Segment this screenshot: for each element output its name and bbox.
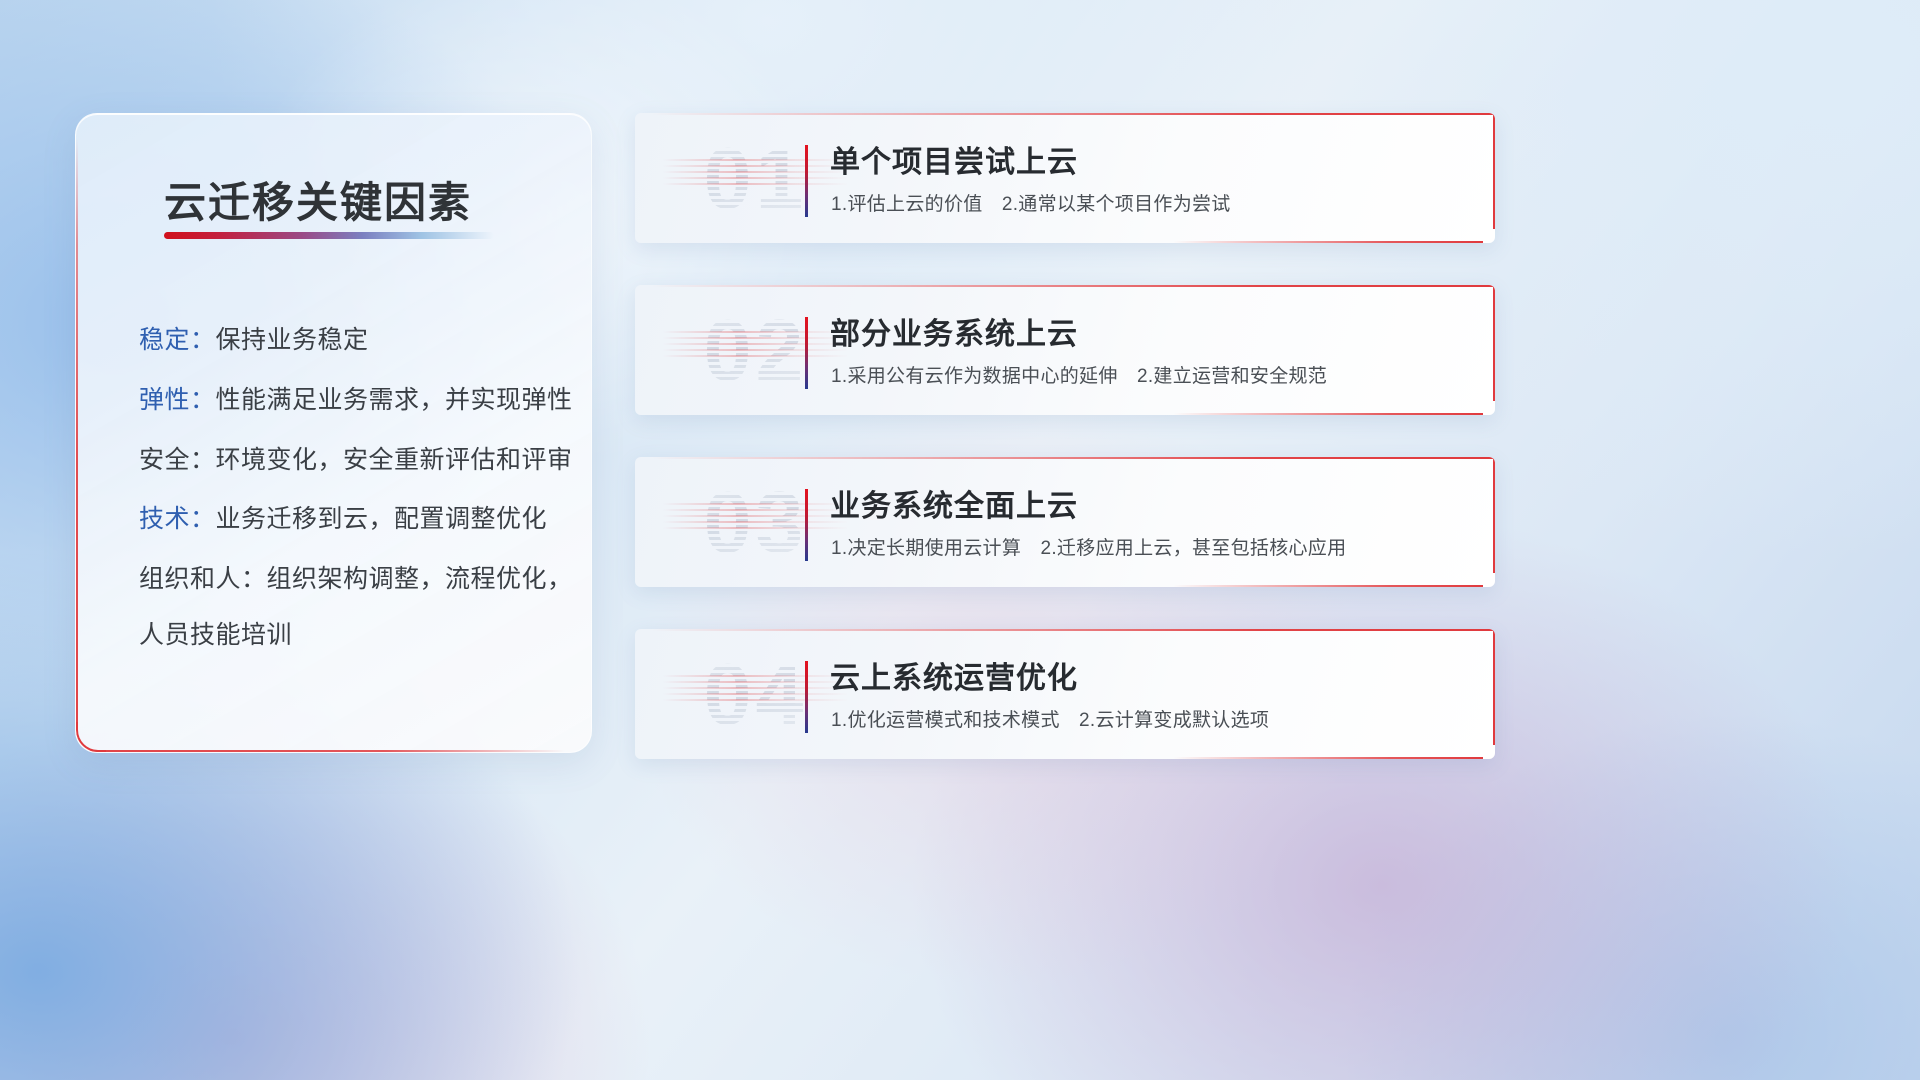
card-right-accent [1493,629,1495,745]
stage-card[interactable]: 01单个项目尝试上云1.评估上云的价值 2.通常以某个项目作为尝试 [635,113,1495,243]
key-factor-label: 安全： [139,446,216,474]
key-factor-text: 组织架构调整，流程优化， [267,565,573,593]
stage-card[interactable]: 03业务系统全面上云1.决定长期使用云计算 2.迁移应用上云，甚至包括核心应用 [635,457,1495,587]
key-factor-label: 稳定： [139,326,216,354]
card-divider [805,145,808,217]
key-factor-line: 组织和人：组织架构调整，流程优化， [139,563,569,597]
key-factor-label: 组织和人： [139,565,267,593]
card-divider [805,661,808,733]
stage-title: 云上系统运营优化 [830,653,1078,697]
key-factor-label: 技术： [139,505,216,533]
card-top-accent [651,113,1495,115]
key-factor-label: 弹性： [139,386,216,414]
card-top-accent [651,457,1495,459]
key-factors-list: 稳定：保持业务稳定弹性：性能满足业务需求，并实现弹性安全：环境变化，安全重新评估… [139,324,569,675]
slide-stage: 云迁移关键因素 稳定：保持业务稳定弹性：性能满足业务需求，并实现弹性安全：环境变… [0,0,1920,1080]
key-factor-line: 安全：环境变化，安全重新评估和评审 [139,444,569,478]
stage-number: 01 [663,127,848,231]
key-factor-text: 环境变化，安全重新评估和评审 [216,446,573,474]
panel-left-accent [76,138,78,730]
panel-corner-accent [76,722,106,752]
card-top-accent [651,285,1495,287]
card-bottom-accent [1173,241,1483,243]
card-divider [805,489,808,561]
key-factor-line: 技术：业务迁移到云，配置调整优化 [139,503,569,537]
key-factor-line: 弹性：性能满足业务需求，并实现弹性 [139,384,569,418]
card-bottom-accent [1173,757,1483,759]
stage-number: 04 [663,643,848,747]
key-factor-text: 人员技能培训 [139,621,292,649]
card-bottom-accent [1173,413,1483,415]
stage-title: 部分业务系统上云 [830,309,1078,353]
title-underline [164,232,494,239]
stage-card[interactable]: 04云上系统运营优化1.优化运营模式和技术模式 2.云计算变成默认选项 [635,629,1495,759]
stage-subtitle: 1.采用公有云作为数据中心的延伸 2.建立运营和安全规范 [831,361,1327,388]
stage-number: 03 [663,471,848,575]
key-factor-text: 保持业务稳定 [216,326,369,354]
card-right-accent [1493,113,1495,229]
key-factor-line: 人员技能培训 [139,619,569,653]
card-top-accent [651,629,1495,631]
key-factor-line: 稳定：保持业务稳定 [139,324,569,358]
stage-subtitle: 1.评估上云的价值 2.通常以某个项目作为尝试 [831,189,1231,216]
stage-title: 单个项目尝试上云 [830,137,1078,181]
stage-card[interactable]: 02部分业务系统上云1.采用公有云作为数据中心的延伸 2.建立运营和安全规范 [635,285,1495,415]
stage-title: 业务系统全面上云 [830,481,1078,525]
panel-bottom-accent [90,750,565,752]
card-bottom-accent [1173,585,1483,587]
stage-subtitle: 1.决定长期使用云计算 2.迁移应用上云，甚至包括核心应用 [831,533,1346,560]
card-divider [805,317,808,389]
card-right-accent [1493,285,1495,401]
card-right-accent [1493,457,1495,573]
stage-number: 02 [663,299,848,403]
key-factors-panel: 云迁移关键因素 稳定：保持业务稳定弹性：性能满足业务需求，并实现弹性安全：环境变… [75,113,592,753]
key-factor-text: 性能满足业务需求，并实现弹性 [216,386,573,414]
page-title: 云迁移关键因素 [164,169,472,230]
key-factor-text: 业务迁移到云，配置调整优化 [216,505,548,533]
stage-subtitle: 1.优化运营模式和技术模式 2.云计算变成默认选项 [831,705,1269,732]
